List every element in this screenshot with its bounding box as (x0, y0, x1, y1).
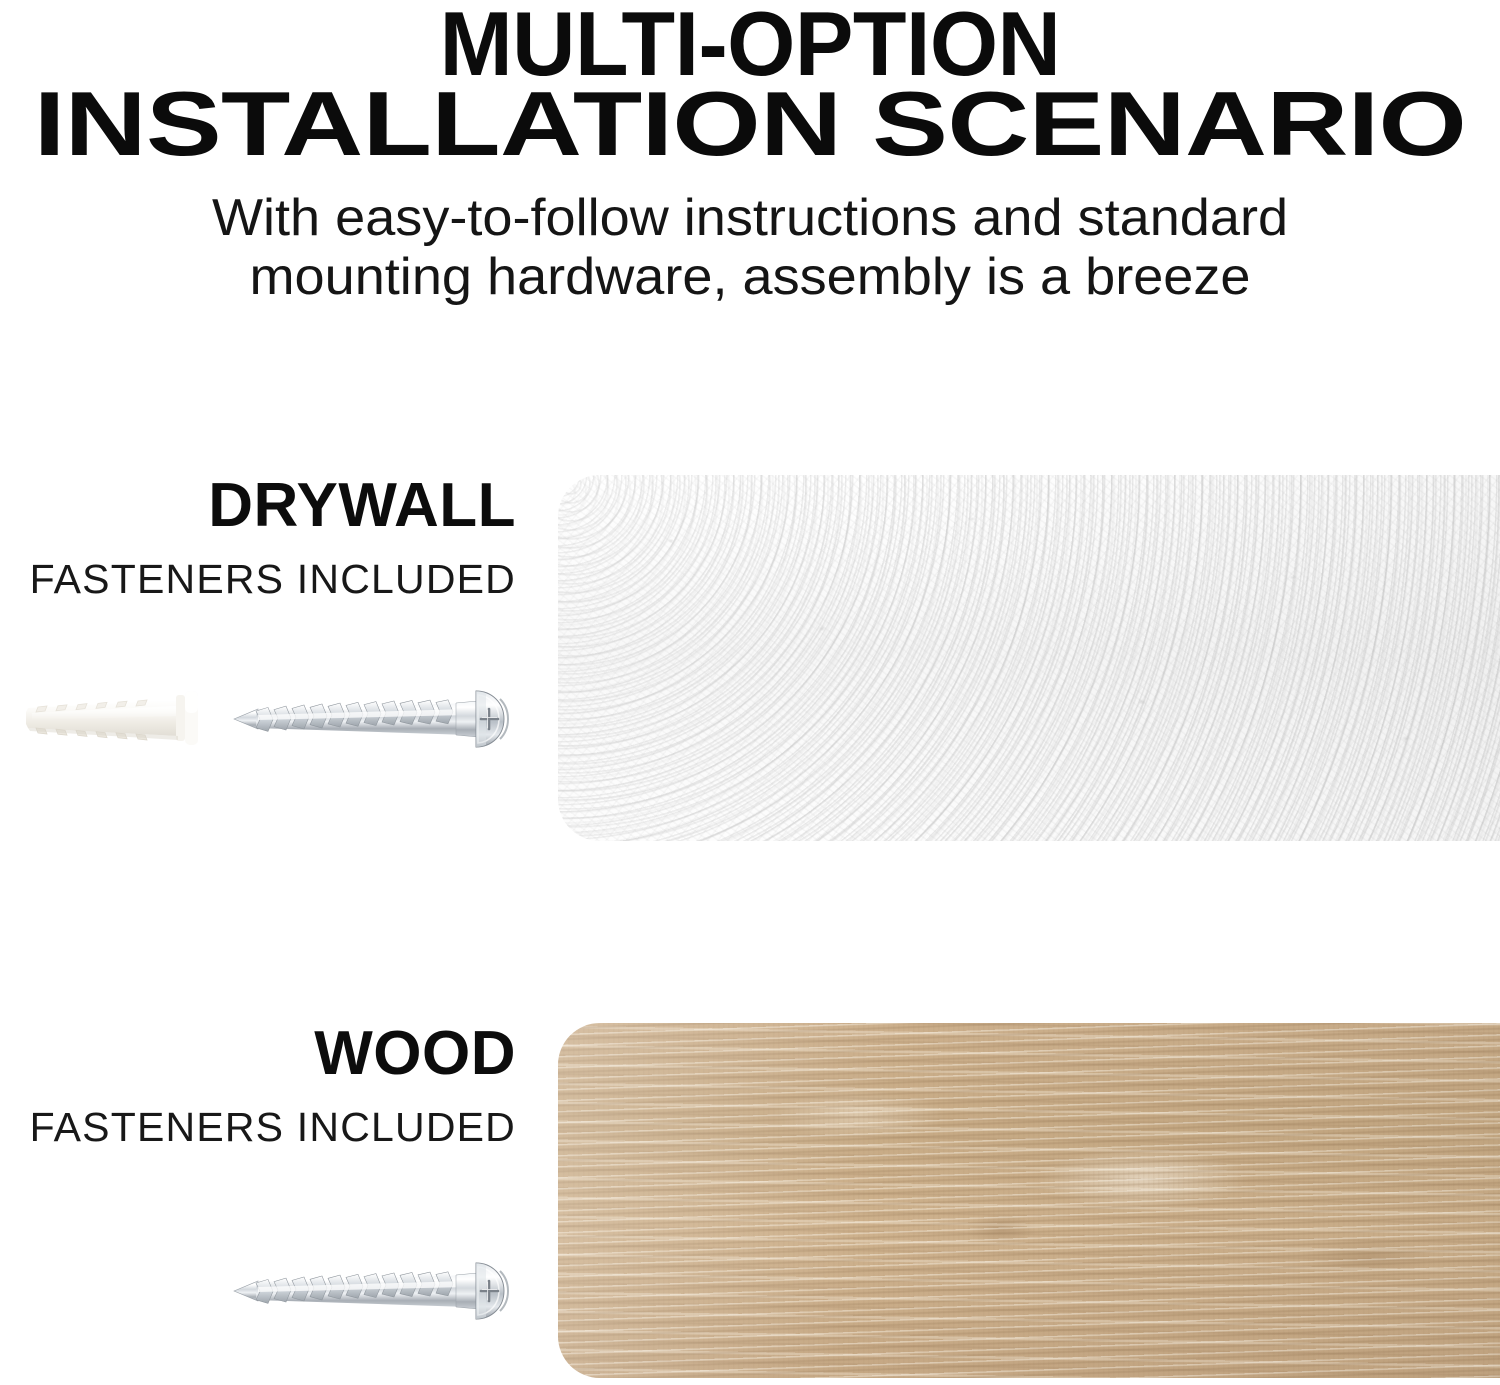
drywall-label-column: DRYWALL FASTENERS INCLUDED (0, 475, 516, 600)
drywall-hardware-row (0, 673, 520, 763)
page-title: MULTI-OPTION INSTALLATION SCENARIO (0, 0, 1500, 163)
wood-hardware-row (0, 1245, 520, 1335)
header: MULTI-OPTION INSTALLATION SCENARIO With … (0, 0, 1500, 306)
wood-subheading: FASTENERS INCLUDED (0, 1107, 516, 1148)
wood-panel-sheen (558, 1023, 1500, 1378)
drywall-subheading: FASTENERS INCLUDED (0, 559, 516, 600)
wood-heading: WOOD (0, 1023, 516, 1085)
wafer-head-screw-icon (230, 1253, 518, 1329)
wood-label-column: WOOD FASTENERS INCLUDED (0, 1023, 516, 1148)
drywall-heading: DRYWALL (0, 475, 516, 537)
wood-material-panel (558, 1023, 1500, 1378)
wafer-head-screw-icon (230, 681, 518, 757)
subtitle-line-2: mounting hardware, assembly is a breeze (0, 248, 1500, 306)
subtitle-line-1: With easy-to-follow instructions and sta… (0, 189, 1500, 247)
title-line-2: INSTALLATION SCENARIO (0, 82, 1500, 169)
page-subtitle: With easy-to-follow instructions and sta… (0, 189, 1500, 305)
drywall-material-panel (558, 475, 1500, 841)
drywall-panel-sheen (558, 475, 1500, 841)
plastic-wall-anchor-icon (18, 687, 214, 749)
